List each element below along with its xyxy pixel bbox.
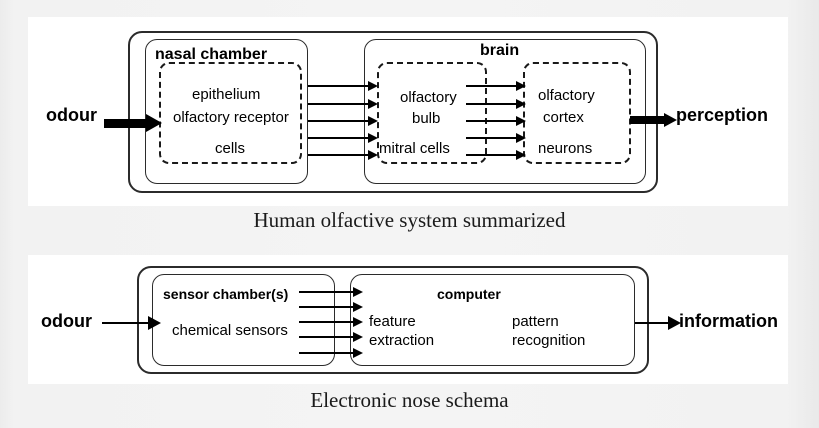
- connector-sensor-computer-shaft: [299, 352, 355, 354]
- label-olfactory-bulb-line2: bulb: [412, 110, 440, 127]
- caption-human-olfactive: Human olfactive system summarized: [0, 208, 819, 233]
- label-extraction: extraction: [369, 332, 434, 349]
- label-neurons: neurons: [538, 140, 592, 157]
- label-olfactory-cortex-line2: cortex: [543, 109, 584, 126]
- connector-bulb-cortex-shaft: [466, 137, 518, 139]
- label-cells: cells: [215, 140, 245, 157]
- arrow-to-information-head: [668, 316, 681, 330]
- arrow-odour-to-sensor-head: [148, 316, 161, 330]
- connector-nasal-bulb-shaft: [308, 154, 370, 156]
- arrow-odour-to-nasal-shaft: [104, 119, 146, 128]
- connector-nasal-bulb-head: [368, 133, 378, 143]
- connector-nasal-bulb-shaft: [308, 103, 370, 105]
- connector-sensor-computer-shaft: [299, 306, 355, 308]
- connector-nasal-bulb-head: [368, 99, 378, 109]
- output-label-information: information: [679, 311, 778, 332]
- connector-sensor-computer-head: [353, 332, 363, 342]
- connector-sensor-computer-head: [353, 317, 363, 327]
- input-label-odour-bottom: odour: [41, 311, 92, 332]
- arrow-to-information-shaft: [635, 322, 671, 324]
- sensor-chamber-title: sensor chamber(s): [163, 286, 288, 302]
- arrow-to-perception-shaft: [630, 116, 666, 124]
- label-olfactory-cortex-line1: olfactory: [538, 87, 595, 104]
- connector-bulb-cortex-head: [516, 99, 526, 109]
- connector-nasal-bulb-shaft: [308, 120, 370, 122]
- connector-nasal-bulb-shaft: [308, 137, 370, 139]
- connector-sensor-computer-shaft: [299, 336, 355, 338]
- connector-sensor-computer-head: [353, 348, 363, 358]
- connector-bulb-cortex-shaft: [466, 85, 518, 87]
- connector-nasal-bulb-shaft: [308, 85, 370, 87]
- connector-nasal-bulb-head: [368, 81, 378, 91]
- connector-sensor-computer-head: [353, 302, 363, 312]
- connector-bulb-cortex-head: [516, 116, 526, 126]
- label-olfactory-bulb-line1: olfactory: [400, 89, 457, 106]
- connector-nasal-bulb-head: [368, 116, 378, 126]
- connector-bulb-cortex-head: [516, 81, 526, 91]
- arrow-to-perception-head: [664, 113, 677, 127]
- connector-bulb-cortex-shaft: [466, 120, 518, 122]
- connector-sensor-computer-shaft: [299, 291, 355, 293]
- nasal-chamber-title: nasal chamber: [155, 46, 267, 64]
- label-epithelium: epithelium: [192, 86, 260, 103]
- arrow-odour-to-sensor-shaft: [102, 322, 150, 324]
- connector-bulb-cortex-head: [516, 150, 526, 160]
- label-mitral-cells: mitral cells: [379, 140, 450, 157]
- input-label-odour-top: odour: [46, 105, 97, 126]
- connector-sensor-computer-head: [353, 287, 363, 297]
- caption-electronic-nose: Electronic nose schema: [0, 388, 819, 413]
- output-label-perception: perception: [676, 105, 768, 126]
- connector-sensor-computer-shaft: [299, 321, 355, 323]
- connector-bulb-cortex-shaft: [466, 154, 518, 156]
- connector-bulb-cortex-shaft: [466, 103, 518, 105]
- arrow-odour-to-nasal-head: [146, 114, 162, 132]
- label-feature: feature: [369, 313, 416, 330]
- label-pattern: pattern: [512, 313, 559, 330]
- label-olfactory-receptor: olfactory receptor: [173, 109, 289, 126]
- brain-title: brain: [480, 42, 519, 60]
- connector-nasal-bulb-head: [368, 150, 378, 160]
- computer-title: computer: [437, 286, 501, 302]
- label-chemical-sensors: chemical sensors: [172, 322, 288, 339]
- label-recognition: recognition: [512, 332, 585, 349]
- connector-bulb-cortex-head: [516, 133, 526, 143]
